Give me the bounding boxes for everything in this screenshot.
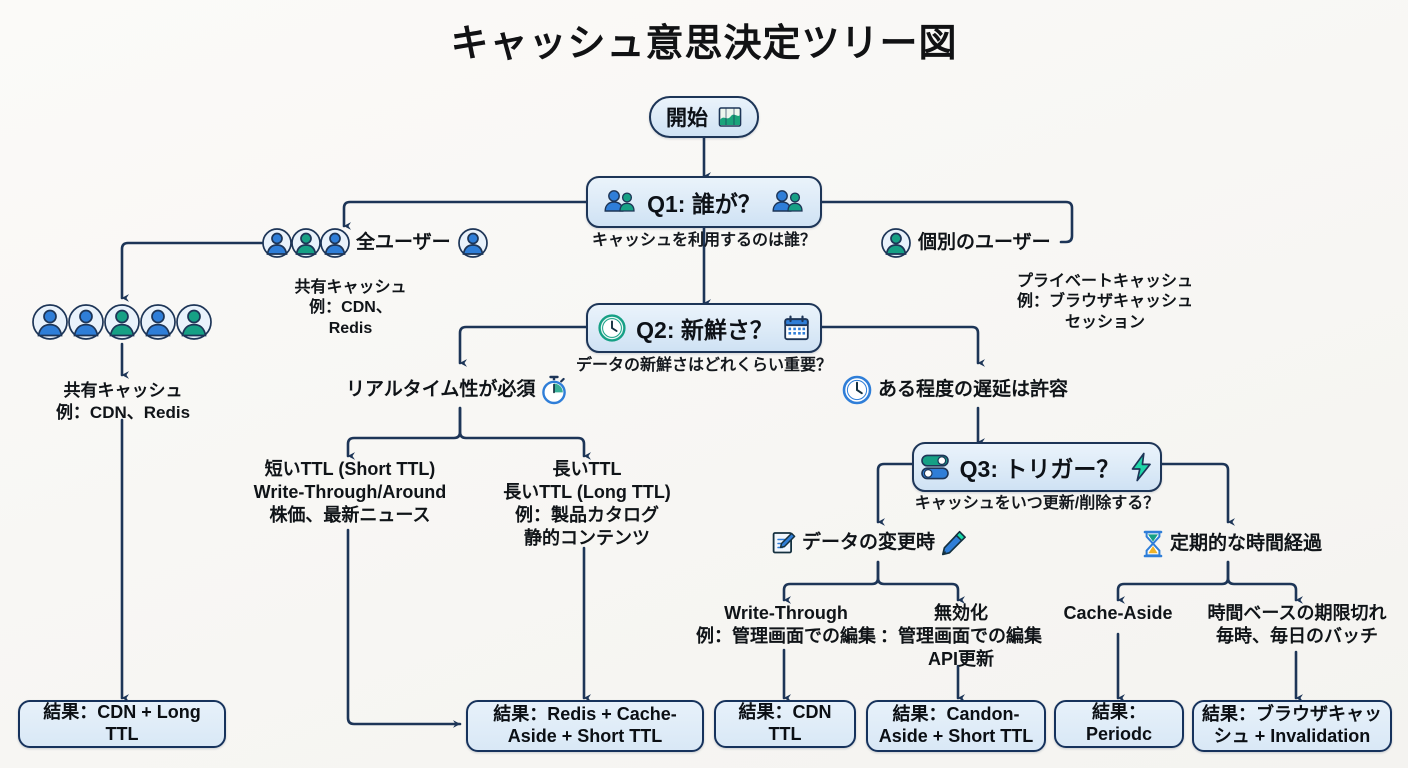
lightning-icon [1129,452,1154,482]
calendar-icon [783,315,810,342]
people-icon [603,189,637,215]
periodic-label: 定期的な時間経過 [1170,532,1322,556]
q3-sublabel: キャッシュをいつ更新/削除する？ [902,494,1172,514]
clock-icon [842,375,872,405]
q1-sublabel: キャッシュを利用するのは誰？ [554,231,854,251]
toggles-icon [920,452,950,482]
branch-all-users[interactable]: 全ユーザー [262,226,489,260]
node-q1[interactable]: Q1: 誰が？ [586,176,822,228]
shared-cache-note: 共有キャッシュ 例：CDN、Redis [12,380,234,424]
shared-cache-avatars [28,300,216,349]
node-q2[interactable]: Q2: 新鮮さ？ [586,303,822,353]
start-label: 開始 [666,102,708,132]
result-box-1[interactable]: 結果：CDN + Long TTL [18,700,226,748]
result-box-6[interactable]: 結果：ブラウザキャッシュ + Invalidation [1192,700,1392,752]
stopwatch-icon [541,375,567,405]
q3-label: Q3: トリガー？ [960,450,1120,484]
memo-icon [772,531,796,555]
branch-individual-user[interactable]: 個別のユーザー [880,226,1051,260]
branch-realtime[interactable]: リアルタイム性が必須 [346,375,567,405]
person-icon [457,226,489,260]
result-box-3[interactable]: 結果：CDN TTL [714,700,856,748]
people-icon [771,189,805,215]
all-users-note: 共有キャッシュ 例：CDN、 Redis [248,278,453,339]
people-group-icon [262,226,350,260]
delay-ok-label: ある程度の遅延は許容 [878,378,1068,402]
strategy-write-through: Write-Through 例：管理画面での編集 [688,602,884,648]
individual-user-note: プライベートキャッシュ 例：ブラウザキャッシュ セッション [975,272,1235,333]
result-box-4[interactable]: 結果：Candon-Aside + Short TTL [866,700,1046,752]
person-icon [880,226,912,260]
page-title: キャッシュ意思決定ツリー図 [0,12,1408,67]
all-users-label: 全ユーザー [356,231,451,255]
q2-label: Q2: 新鮮さ？ [636,311,773,345]
hourglass-icon [1142,530,1164,558]
q1-label: Q1: 誰が？ [647,185,761,219]
strategy-long-ttl: 長いTTL 長いTTL (Long TTL) 例：製品カタログ 静的コンテンツ [472,458,702,550]
strategy-short-ttl: 短いTTL (Short TTL) Write-Through/Around 株… [236,458,464,527]
node-q3[interactable]: Q3: トリガー？ [912,442,1162,492]
realtime-label: リアルタイム性が必須 [346,378,535,402]
strategy-invalidation: 無効化 ：管理画面での編集 API更新 [868,602,1054,671]
branch-periodic[interactable]: 定期的な時間経過 [1142,530,1322,558]
on-change-label: データの変更時 [802,531,935,555]
node-start[interactable]: 開始 [649,96,759,138]
clock-icon [598,314,626,342]
strategy-cache-aside: Cache-Aside [1038,602,1198,625]
result-box-5[interactable]: 結果：Periodc [1054,700,1184,748]
individual-user-label: 個別のユーザー [918,231,1051,255]
diagram-canvas: キャッシュ意思決定ツリー図 開始 Q1: 誰が？ [0,0,1408,768]
q2-sublabel: データの新鮮さはどれくらい重要？ [542,356,866,376]
result-box-2[interactable]: 結果：Redis + Cache-Aside + Short TTL [466,700,704,752]
branch-on-change[interactable]: データの変更時 [772,530,967,556]
map-icon [718,106,742,128]
pencil-icon [941,530,967,556]
branch-delay-ok[interactable]: ある程度の遅延は許容 [842,375,1068,405]
strategy-time-based: 時間ベースの期限切れ 毎時、毎日のバッチ [1196,602,1398,648]
